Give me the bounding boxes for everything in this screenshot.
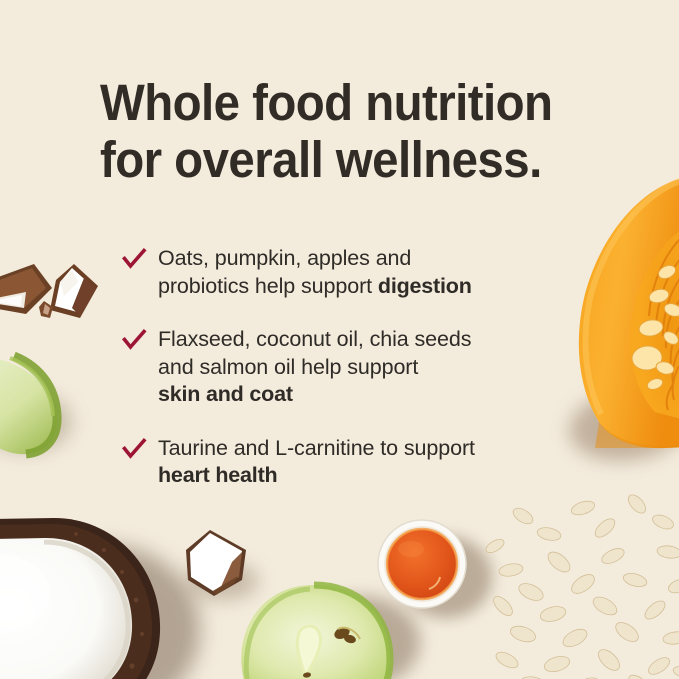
list-item: Oats, pumpkin, apples and probiotics hel… — [120, 245, 590, 300]
bullet-3-emphasis: heart health — [158, 463, 277, 487]
list-item-text: Oats, pumpkin, apples and probiotics hel… — [158, 245, 590, 300]
bullet-2-line-1: Flaxseed, coconut oil, chia seeds — [158, 327, 471, 351]
page-title: Whole food nutrition for overall wellnes… — [100, 74, 565, 188]
bullet-1-line-2: probiotics help support — [158, 274, 378, 298]
promo-banner: Whole food nutrition for overall wellnes… — [0, 0, 679, 679]
bullet-3-line-1: Taurine and L-carnitine to support — [158, 436, 475, 460]
bullet-1-emphasis: digestion — [378, 274, 472, 298]
check-icon — [122, 248, 146, 270]
rolled-oats-image — [487, 500, 679, 679]
list-item-text: Flaxseed, coconut oil, chia seeds and sa… — [158, 326, 590, 409]
check-icon — [122, 329, 146, 351]
coconut-half-image — [0, 516, 172, 679]
list-item: Taurine and L-carnitine to support heart… — [120, 435, 590, 490]
coconut-crumb-image — [38, 300, 55, 320]
bullet-1-line-1: Oats, pumpkin, apples and — [158, 246, 411, 270]
benefits-list: Oats, pumpkin, apples and probiotics hel… — [120, 245, 590, 490]
list-item: Flaxseed, coconut oil, chia seeds and sa… — [120, 326, 590, 409]
apple-slice-image — [0, 352, 66, 456]
check-icon — [122, 438, 146, 460]
bullet-2-emphasis: skin and coat — [158, 382, 293, 406]
apple-half-image — [240, 583, 392, 679]
list-item-text: Taurine and L-carnitine to support heart… — [158, 435, 590, 490]
bullet-2-line-2: and salmon oil help support — [158, 355, 418, 379]
headline-line-1: Whole food nutrition — [100, 74, 552, 131]
headline-line-2: for overall wellness. — [100, 131, 565, 188]
